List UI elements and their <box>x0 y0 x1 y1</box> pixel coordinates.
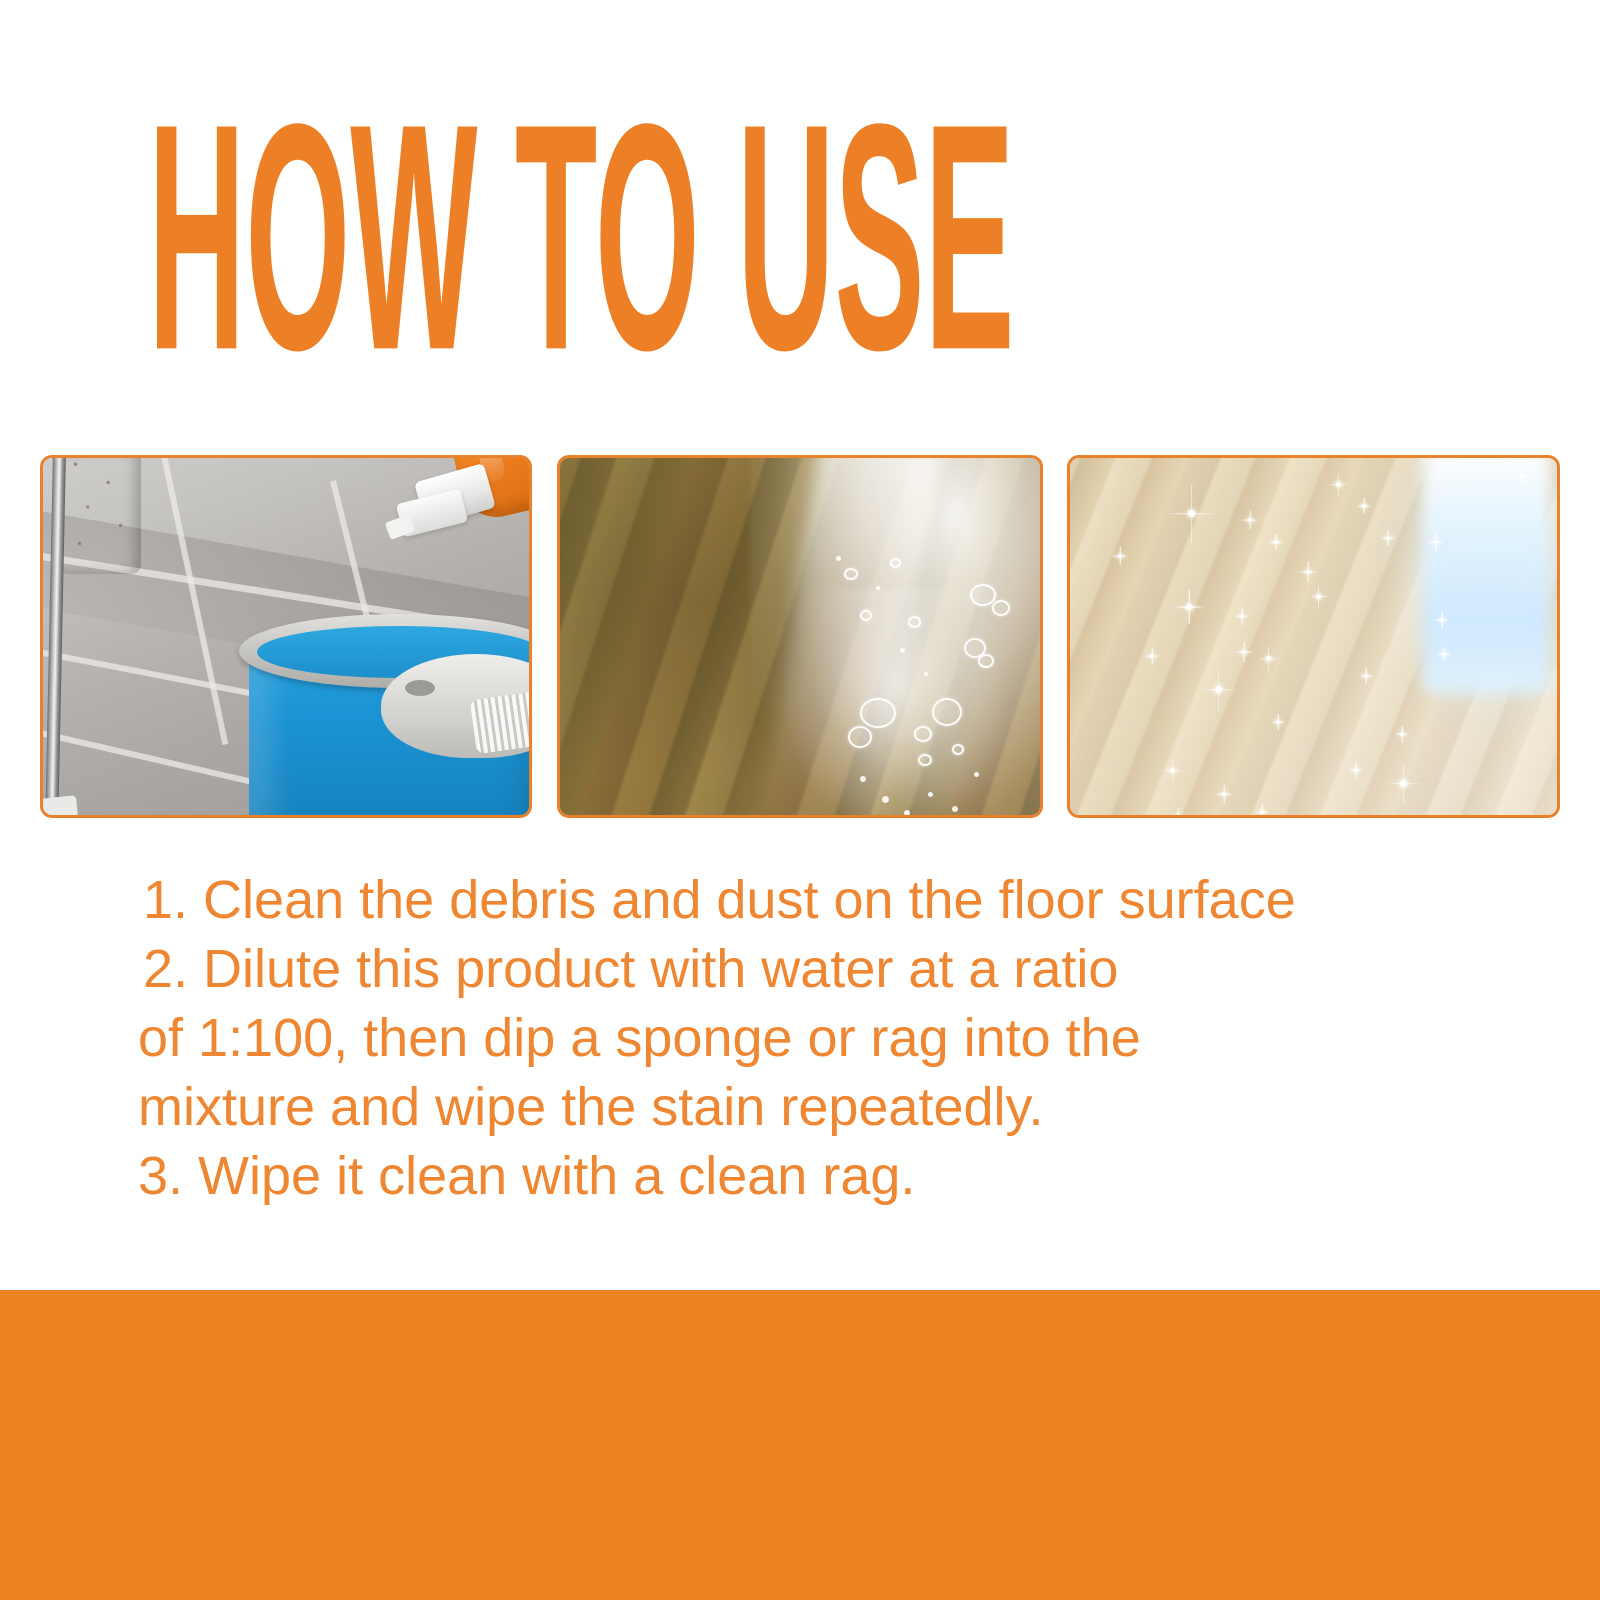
bucket-and-bottle-photo <box>40 455 532 818</box>
foam-bubble <box>860 610 872 621</box>
sparkle-icon <box>1215 686 1222 693</box>
foam-bubble <box>914 726 932 742</box>
sparkle-icon <box>1336 482 1341 487</box>
window-reflection <box>1423 458 1549 693</box>
sparkle-icon <box>1240 614 1244 618</box>
mop-handle-foot <box>43 795 78 815</box>
sparkle-icon <box>1274 540 1278 544</box>
foam-bubble <box>952 744 964 755</box>
page-title: HOW TO USE <box>148 92 1448 342</box>
sparkle-icon <box>1276 720 1280 724</box>
sparkle-icon <box>1354 768 1358 772</box>
foam-speck <box>974 772 979 777</box>
sparkle-icon <box>1150 654 1154 658</box>
instruction-step: 3. Wipe it clean with a clean rag. <box>138 1142 1538 1211</box>
foam-bubble <box>978 654 994 668</box>
foam-bubble <box>992 600 1010 616</box>
foam-bubble <box>908 616 921 628</box>
sparkle-icon <box>1364 674 1368 678</box>
foam-speck <box>836 556 841 561</box>
foam-speck <box>928 792 933 797</box>
sparkle-icon <box>1386 536 1390 540</box>
sparkle-icon <box>1316 594 1321 599</box>
sparkle-icon <box>1188 510 1195 517</box>
bucket-and-bottle-photo-content <box>43 458 529 815</box>
foam-speck <box>882 796 889 803</box>
foam-speck <box>924 672 928 676</box>
instruction-step: 1. Clean the debris and dust on the floo… <box>138 866 1538 935</box>
sparkle-icon <box>1170 768 1175 773</box>
foam-bubble <box>860 698 896 728</box>
sparkle-icon <box>1362 504 1366 508</box>
sparkle-icon <box>1306 570 1310 574</box>
sparkle-icon <box>1434 540 1438 544</box>
sparkle-icon <box>1266 656 1271 661</box>
sparkle-icon <box>1260 810 1264 814</box>
sparkle-icon <box>1400 780 1407 787</box>
clean-shiny-floor-photo <box>1067 455 1560 818</box>
instruction-step: 2. Dilute this product with water at a r… <box>138 935 1538 1004</box>
sparkle-icon <box>1440 618 1444 622</box>
sparkle-icon <box>1242 650 1246 654</box>
how-to-use-infographic: HOW TO USE <box>0 0 1600 1600</box>
foam-bubble <box>844 568 858 580</box>
page-title-text: HOW TO USE <box>148 92 779 382</box>
sparkle-icon <box>1248 518 1252 522</box>
spinner-drain-hole <box>405 680 435 696</box>
foam-speck <box>904 810 910 815</box>
sparkle-icon <box>1222 792 1226 796</box>
sparkle-icon <box>1118 554 1122 558</box>
foam-speck <box>952 806 958 812</box>
foam-bubble <box>970 584 996 606</box>
soap-foam-small <box>786 588 1006 815</box>
foam-bubble <box>848 726 872 748</box>
bottom-brand-band <box>0 1290 1600 1600</box>
foamy-floor-photo-content <box>560 458 1040 815</box>
sparkle-icon <box>1176 814 1180 815</box>
clean-shiny-floor-photo-content <box>1070 458 1557 815</box>
instructions-list: 1. Clean the debris and dust on the floo… <box>138 866 1538 1211</box>
wicker-basket <box>59 458 141 574</box>
foamy-floor-photo <box>557 455 1043 818</box>
sparkle-icon <box>1520 474 1524 478</box>
foam-speck <box>876 586 880 590</box>
sparkle-icon <box>1442 652 1446 656</box>
foam-bubble <box>918 754 932 766</box>
foam-speck <box>860 776 866 782</box>
instruction-step: mixture and wipe the stain repeatedly. <box>138 1073 1538 1142</box>
photo-strip <box>40 455 1560 818</box>
foam-speck <box>900 648 905 653</box>
sparkle-icon <box>1400 732 1404 736</box>
sparkle-icon <box>1186 604 1192 610</box>
instruction-step: of 1:100, then dip a sponge or rag into … <box>138 1004 1538 1073</box>
foam-bubble <box>932 698 962 726</box>
foam-bubble <box>890 558 901 568</box>
